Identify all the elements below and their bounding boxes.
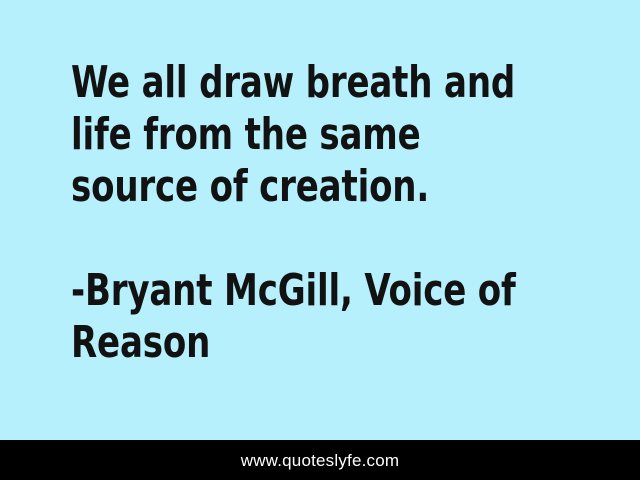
quote-text: We all draw breath and life from the sam… bbox=[71, 57, 526, 213]
quote-content: We all draw breath and life from the sam… bbox=[71, 57, 600, 369]
footer-website-url[interactable]: www.quoteslyfe.com bbox=[241, 452, 400, 469]
footer-bar: www.quoteslyfe.com bbox=[0, 440, 640, 480]
quote-card: We all draw breath and life from the sam… bbox=[0, 0, 640, 480]
quote-attribution: -Bryant McGill, Voice of Reason bbox=[71, 265, 526, 369]
